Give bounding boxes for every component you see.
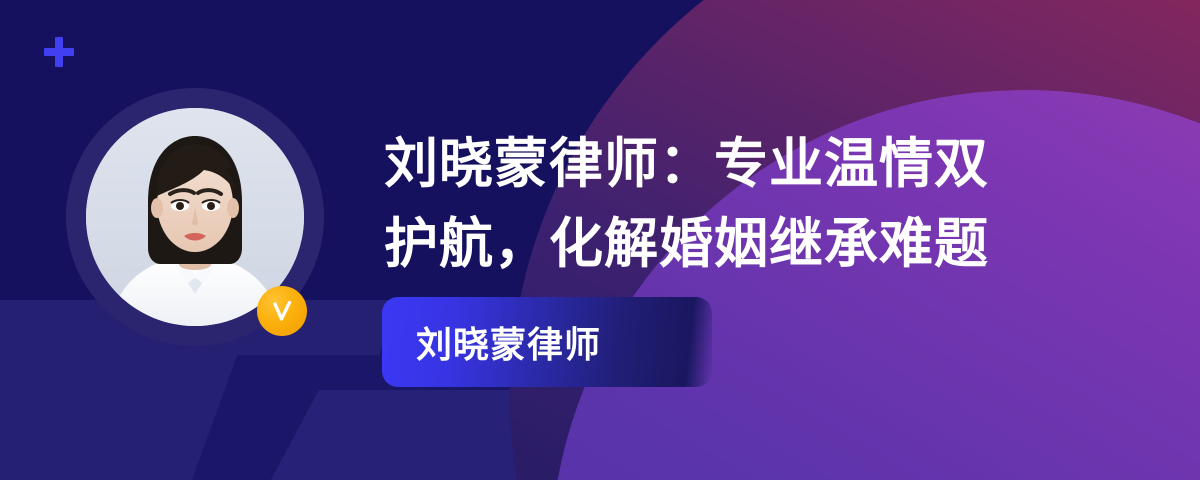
background-slab-right [191, 390, 719, 480]
lawyer-name-pill[interactable]: 刘晓蒙律师 [382, 297, 712, 387]
lawyer-name-label: 刘晓蒙律师 [416, 316, 601, 368]
title-line-2: 护航，化解婚姻继承难题 [384, 204, 1124, 284]
promo-banner: 刘晓蒙律师：专业温情双 护航，化解婚姻继承难题 刘晓蒙律师 [0, 0, 1200, 480]
plus-icon [44, 37, 74, 67]
avatar [66, 88, 324, 346]
page-title: 刘晓蒙律师：专业温情双 护航，化解婚姻继承难题 [384, 124, 1124, 284]
verified-badge-icon [257, 286, 307, 336]
title-line-1: 刘晓蒙律师：专业温情双 [384, 124, 1124, 204]
